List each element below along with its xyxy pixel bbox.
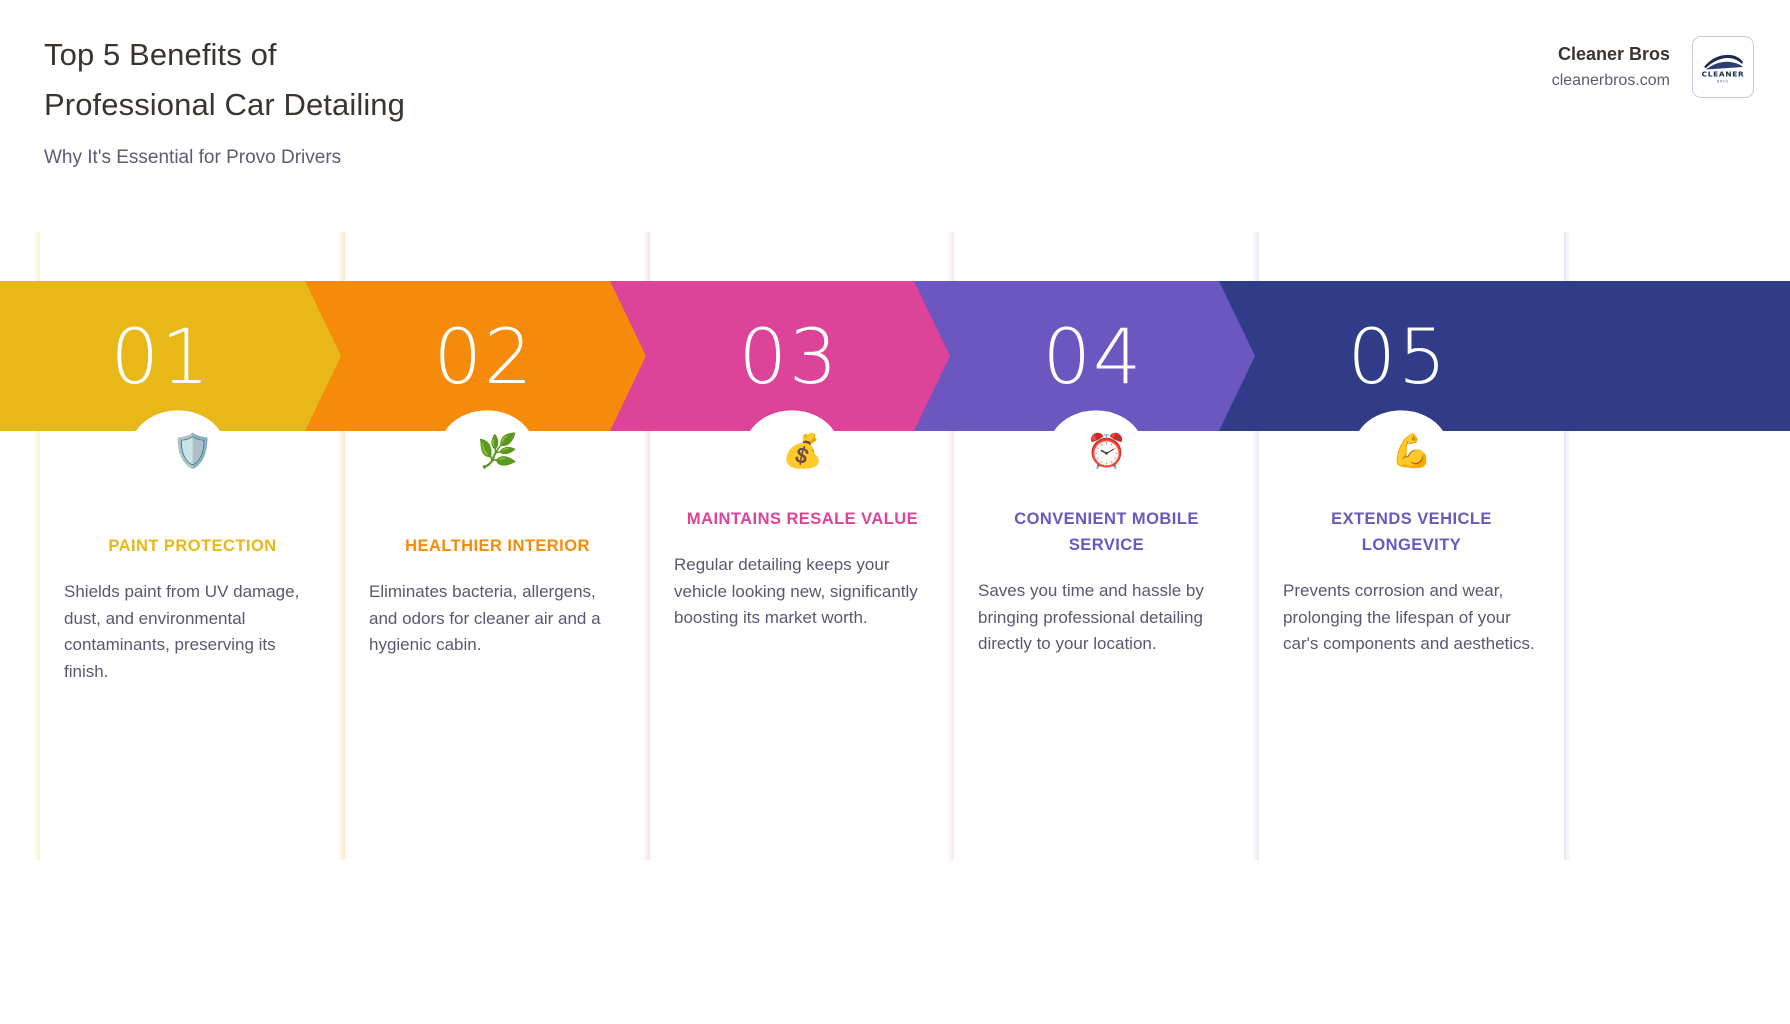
card-title: Healthier Interior: [367, 533, 628, 559]
card-description: Regular detailing keeps your vehicle loo…: [672, 552, 933, 632]
card-title: Convenient Mobile Service: [976, 506, 1237, 558]
page-title-line-1: Top 5 Benefits of: [44, 30, 944, 80]
card-title: Maintains Resale Value: [672, 506, 933, 532]
brand-name: Cleaner Bros: [1552, 41, 1670, 67]
alarm-clock-icon: ⏰: [976, 431, 1237, 473]
brand-logo: CLEANER BROS: [1692, 36, 1754, 98]
brand-block: Cleaner Bros cleanerbros.com CLEANER BRO…: [1552, 36, 1754, 98]
page-title-line-2: Professional Car Detailing: [44, 80, 944, 130]
step-chevron-band: 01 02 03 04 05: [0, 281, 1790, 431]
svg-text:BROS: BROS: [1717, 79, 1729, 83]
shield-icon: 🛡️: [62, 431, 323, 473]
card-body: 🛡️ Paint Protection Shields paint from U…: [40, 431, 345, 685]
card-description: Prevents corrosion and wear, prolonging …: [1281, 578, 1542, 658]
card-description: Saves you time and hassle by bringing pr…: [976, 578, 1237, 658]
header: Top 5 Benefits of Professional Car Detai…: [0, 0, 1790, 200]
card-body: ⏰ Convenient Mobile Service Saves you ti…: [954, 431, 1259, 658]
car-logo-icon: CLEANER BROS: [1695, 39, 1751, 95]
title-block: Top 5 Benefits of Professional Car Detai…: [44, 30, 944, 170]
card-title: Extends Vehicle Longevity: [1281, 506, 1542, 558]
flexed-biceps-icon: 💪: [1281, 431, 1542, 473]
herb-leaf-icon: 🌿: [367, 431, 628, 473]
step-chevron-5[interactable]: [1219, 281, 1790, 431]
card-body: 🌿 Healthier Interior Eliminates bacteria…: [345, 431, 650, 659]
card-title: Paint Protection: [62, 533, 323, 559]
brand-website: cleanerbros.com: [1552, 69, 1670, 93]
card-body: 💪 Extends Vehicle Longevity Prevents cor…: [1259, 431, 1564, 658]
page-subtitle: Why It's Essential for Provo Drivers: [44, 146, 944, 170]
card-description: Eliminates bacteria, allergens, and odor…: [367, 579, 628, 659]
svg-text:CLEANER: CLEANER: [1702, 70, 1745, 79]
card-body: 💰 Maintains Resale Value Regular detaili…: [650, 431, 955, 632]
card-description: Shields paint from UV damage, dust, and …: [62, 579, 323, 685]
brand-text: Cleaner Bros cleanerbros.com: [1552, 41, 1670, 93]
money-bag-icon: 💰: [672, 431, 933, 473]
